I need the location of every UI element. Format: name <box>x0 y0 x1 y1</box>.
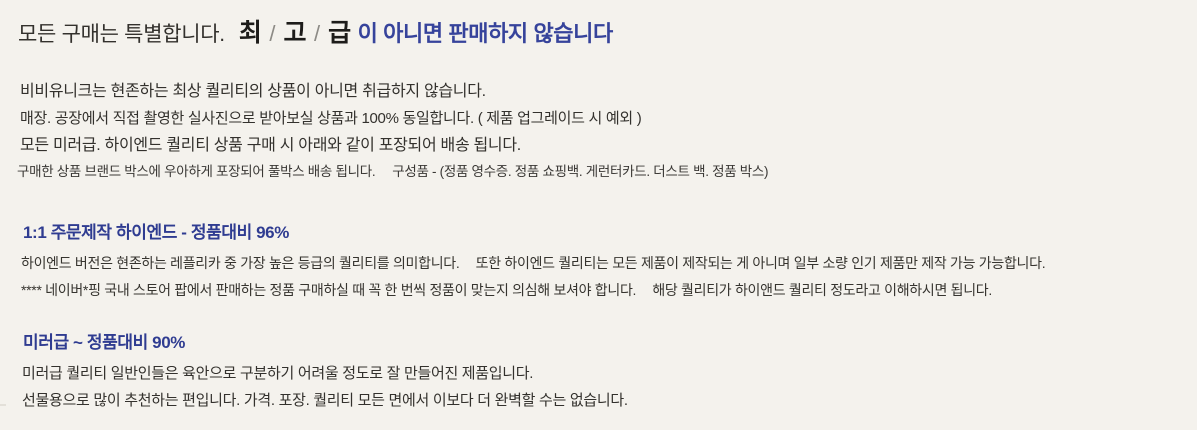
left-edge-artifact <box>0 404 6 406</box>
grade-group: 최 / 고 / 급 <box>239 13 351 49</box>
intro-block: 비비유니크는 현존하는 최상 퀄리티의 상품이 아니면 취급하지 않습니다. 매… <box>20 78 1180 185</box>
intro-line-1: 비비유니크는 현존하는 최상 퀄리티의 상품이 아니면 취급하지 않습니다. <box>20 78 1180 105</box>
section-highend-line-2: **** 네이버*핑 국내 스토어 팝에서 판매하는 정품 구매하실 때 꼭 한… <box>21 277 1180 304</box>
section-highend-line-2b: 해당 퀄리티가 하이앤드 퀄리티 정도라고 이해하시면 됩니다. <box>652 282 992 298</box>
headline-lead-text: 모든 구매는 특별합니다. <box>18 18 225 48</box>
section-highend-line-1b: 또한 하이엔드 퀄리티는 모든 제품이 제작되는 게 아니며 일부 소량 인기 … <box>476 255 1046 271</box>
section-highend-line-1: 하이엔드 버전은 현존하는 레플리카 중 가장 높은 등급의 퀄리티를 의미합니… <box>21 250 1180 277</box>
product-quality-page: 모든 구매는 특별합니다. 최 / 고 / 급 이 아니면 판매하지 않습니다 … <box>0 0 1197 430</box>
section-mirror-line-2: 선물용으로 많이 추천하는 편입니다. 가격. 포장. 퀄리티 모든 면에서 이… <box>22 387 1180 414</box>
headline-tail-text: 이 아니면 판매하지 않습니다 <box>358 16 613 48</box>
section-highend-line-2a: **** 네이버*핑 국내 스토어 팝에서 판매하는 정품 구매하실 때 꼭 한… <box>21 282 636 298</box>
intro-line-4: 구매한 상품 브랜드 박스에 우아하게 포장되어 풀박스 배송 됩니다. 구성품… <box>17 159 1180 185</box>
intro-line-3: 모든 미러급. 하이엔드 퀄리티 상품 구매 시 아래와 같이 포장되어 배송 … <box>20 132 1180 159</box>
section-mirror-line-1: 미러급 퀄리티 일반인들은 육안으로 구분하기 어려울 정도로 잘 만들어진 제… <box>22 360 1180 387</box>
section-mirror: 미러급 ~ 정품대비 90% 미러급 퀄리티 일반인들은 육안으로 구분하기 어… <box>20 328 1180 414</box>
section-highend-line-1a: 하이엔드 버전은 현존하는 레플리카 중 가장 높은 등급의 퀄리티를 의미합니… <box>21 255 459 271</box>
intro-line-2: 매장. 공장에서 직접 촬영한 실사진으로 받아보실 상품과 100% 동일합니… <box>20 105 1180 132</box>
grade-char-1: 최 <box>239 13 262 49</box>
section-highend: 1:1 주문제작 하이엔드 - 정품대비 96% 하이엔드 버전은 현존하는 레… <box>20 218 1180 304</box>
section-mirror-title: 미러급 ~ 정품대비 90% <box>23 328 1180 353</box>
section-highend-title: 1:1 주문제작 하이엔드 - 정품대비 96% <box>23 218 1180 243</box>
intro-line-4-packaging: 구매한 상품 브랜드 박스에 우아하게 포장되어 풀박스 배송 됩니다. <box>17 164 375 179</box>
grade-char-3: 급 <box>328 13 351 49</box>
grade-char-2: 고 <box>283 13 306 49</box>
grade-separator-1: / <box>269 21 275 47</box>
page-headline: 모든 구매는 특별합니다. 최 / 고 / 급 이 아니면 판매하지 않습니다 <box>18 13 613 49</box>
intro-line-4-contents: 구성품 - (정품 영수증. 정품 쇼핑백. 게런터카드. 더스트 백. 정품 … <box>392 164 768 179</box>
grade-separator-2: / <box>314 21 320 47</box>
